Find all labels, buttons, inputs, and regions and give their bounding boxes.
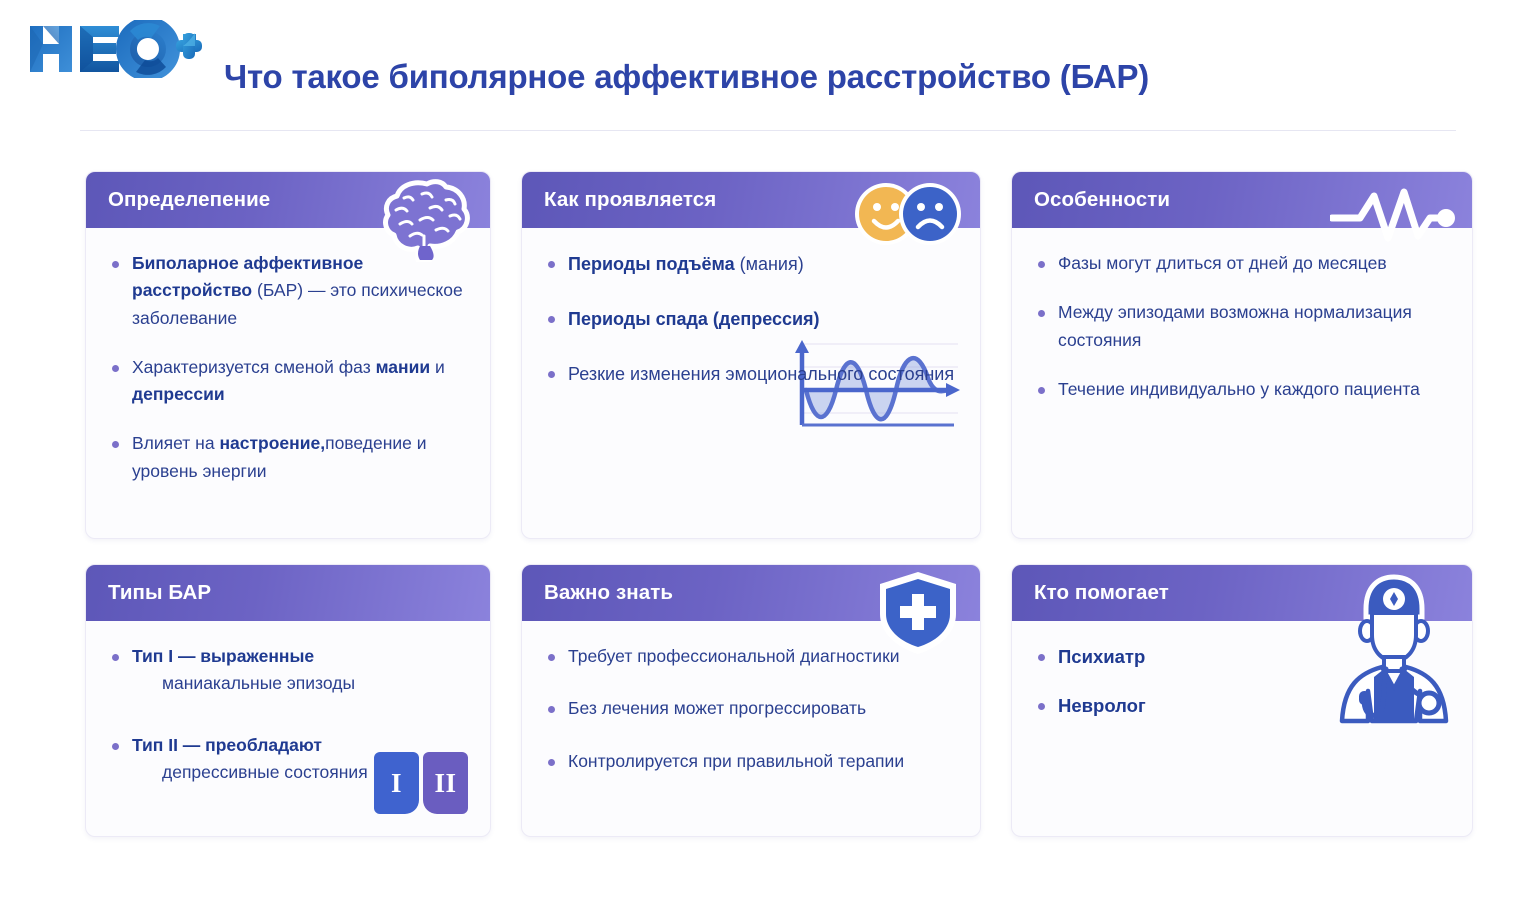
card-body-types: Тип I — выраженныеманиакальные эпизоды Т… xyxy=(86,621,490,836)
list-item: Биполарное аффективное расстройство (БАР… xyxy=(106,250,470,332)
bullet-regular-text: и xyxy=(430,357,445,377)
bullet-list: Периоды подъёма (мания) Периоды спада (д… xyxy=(542,250,960,388)
bullet-regular-text: Контролируется при правильной терапии xyxy=(568,751,904,771)
card-header-types: Типы БАР xyxy=(86,565,490,621)
card-body-who-helps: Психиатр Невролог xyxy=(1012,621,1472,757)
card-who-helps: Кто помогает xyxy=(1011,564,1473,837)
card-header-who-helps: Кто помогает xyxy=(1012,565,1472,621)
bullet-regular-text: Течение индивидуально у каждого пациента xyxy=(1058,379,1420,399)
list-item: Периоды спада (депрессия) xyxy=(542,305,960,333)
card-title: Особенности xyxy=(1012,188,1170,212)
bullet-list: Требует профессиональной диагностики Без… xyxy=(542,643,960,775)
bullet-regular-text: Резкие изменения эмоционального состояни… xyxy=(568,364,954,384)
bullet-regular-text: Без лечения может прогрессировать xyxy=(568,698,866,718)
card-header-definition: Определепение xyxy=(86,172,490,228)
bullet-bold-text: Периоды подъёма xyxy=(568,254,735,274)
bullet-sub-text: депрессивные состояния xyxy=(132,759,470,786)
card-body-features: Фазы могут длиться от дней до месяцев Ме… xyxy=(1012,228,1472,441)
bullet-list: Тип I — выраженныеманиакальные эпизоды Т… xyxy=(106,643,470,786)
bullet-bold-text: мании xyxy=(376,357,431,377)
header-divider xyxy=(80,130,1456,131)
card-body-manifestation: Периоды подъёма (мания) Периоды спада (д… xyxy=(522,228,980,431)
card-title: Важно знать xyxy=(522,581,673,605)
bullet-list: Фазы могут длиться от дней до месяцев Ме… xyxy=(1032,250,1452,403)
card-manifestation: Как проявляется Периоды подъёма (мания) … xyxy=(521,171,981,539)
card-important: Важно знать Требует профессиональной диа… xyxy=(521,564,981,837)
list-item: Между эпизодами возможна нормализация со… xyxy=(1032,299,1452,354)
bullet-bold-text: настроение, xyxy=(219,433,325,453)
page-header: Что такое биполярное аффективное расстро… xyxy=(0,0,1536,128)
list-item: Контролируется при правильной терапии xyxy=(542,748,960,775)
list-item: Характеризуется сменой фаз мании и депре… xyxy=(106,354,470,409)
card-title: Типы БАР xyxy=(86,581,211,605)
list-item: Периоды подъёма (мания) xyxy=(542,250,960,278)
card-title: Как проявляется xyxy=(522,188,716,212)
card-body-important: Требует профессиональной диагностики Без… xyxy=(522,621,980,816)
bullet-sub-text: маниакальные эпизоды xyxy=(132,670,470,697)
bullet-list: Биполарное аффективное расстройство (БАР… xyxy=(106,250,470,485)
card-header-manifestation: Как проявляется xyxy=(522,172,980,228)
card-title: Кто помогает xyxy=(1012,581,1169,605)
neo-plus-logo xyxy=(26,20,202,78)
bullet-regular-text: Между эпизодами возможна нормализация со… xyxy=(1058,302,1412,349)
list-item: Резкие изменения эмоционального состояни… xyxy=(542,360,960,388)
card-definition: Определепение xyxy=(85,171,491,539)
card-grid: Определепение xyxy=(85,171,1457,831)
bullet-list: Психиатр Невролог xyxy=(1032,643,1452,721)
list-item: Тип II — преобладаютдепрессивные состоян… xyxy=(106,732,470,787)
bullet-bold-text: Тип I — выраженные xyxy=(132,646,314,666)
list-item: Психиатр xyxy=(1032,643,1452,672)
card-title: Определепение xyxy=(86,188,270,212)
list-item: Невролог xyxy=(1032,692,1452,721)
bullet-bold-text: Тип II — преобладают xyxy=(132,735,322,755)
bullet-regular-text: Фазы могут длиться от дней до месяцев xyxy=(1058,253,1387,273)
bullet-regular-text: Характеризуется сменой фаз xyxy=(132,357,376,377)
bullet-bold-text: Периоды спада (депрессия) xyxy=(568,309,820,329)
bullet-bold-text: депрессии xyxy=(132,384,225,404)
bullet-regular-text: (мания) xyxy=(735,254,804,274)
list-item: Влияет на настроение,поведение и уровень… xyxy=(106,430,470,485)
bullet-regular-text: Требует профессиональной диагностики xyxy=(568,646,900,666)
card-header-features: Особенности xyxy=(1012,172,1472,228)
card-header-important: Важно знать xyxy=(522,565,980,621)
card-features: Особенности Фазы могут длиться от дней д… xyxy=(1011,171,1473,539)
list-item: Фазы могут длиться от дней до месяцев xyxy=(1032,250,1452,277)
page-title: Что такое биполярное аффективное расстро… xyxy=(224,58,1149,96)
list-item: Без лечения может прогрессировать xyxy=(542,695,960,722)
bullet-bold-text: Невролог xyxy=(1058,695,1146,716)
list-item: Течение индивидуально у каждого пациента xyxy=(1032,376,1452,403)
card-types: Типы БАР Тип I — выраженныеманиакальные … xyxy=(85,564,491,837)
list-item: Тип I — выраженныеманиакальные эпизоды xyxy=(106,643,470,698)
bullet-bold-text: Психиатр xyxy=(1058,646,1145,667)
bullet-regular-text: Влияет на xyxy=(132,433,219,453)
card-body-definition: Биполарное аффективное расстройство (БАР… xyxy=(86,228,490,523)
list-item: Требует профессиональной диагностики xyxy=(542,643,960,670)
